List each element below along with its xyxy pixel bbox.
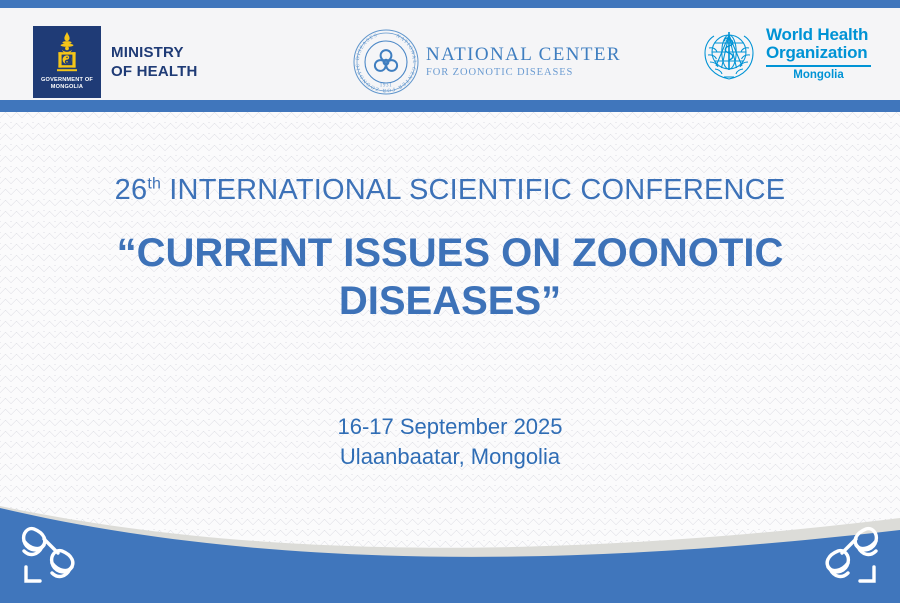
conference-poster: GOVERNMENT OF MONGOLIA MINISTRY OF HEALT…: [0, 0, 900, 603]
who-country: Mongolia: [766, 70, 871, 82]
conference-theme-title: “CURRENT ISSUES ON ZOONOTIC DISEASES”: [0, 229, 900, 325]
header-logos: GOVERNMENT OF MONGOLIA MINISTRY OF HEALT…: [0, 8, 900, 100]
top-accent-bar: [0, 0, 900, 8]
nczd-seal-year: 1931: [380, 84, 392, 89]
conference-title-rest: INTERNATIONAL SCIENTIFIC CONFERENCE: [161, 174, 785, 206]
who-name-line2: Organization: [766, 44, 871, 61]
who-logo: World Health Organization Mongolia: [700, 26, 871, 84]
who-name-line1: World Health: [766, 26, 871, 43]
title-block: 26th INTERNATIONAL SCIENTIFIC CONFERENCE…: [0, 174, 900, 325]
edition-number: 26: [115, 174, 148, 206]
ministry-name-line1: MINISTRY: [111, 43, 198, 62]
event-date: 16-17 September 2025: [0, 412, 900, 442]
conference-edition-title: 26th INTERNATIONAL SCIENTIFIC CONFERENCE: [0, 174, 900, 207]
footer-wave: [0, 458, 900, 603]
ministry-of-health-logo: GOVERNMENT OF MONGOLIA MINISTRY OF HEALT…: [33, 26, 198, 98]
nczd-name-line1: NATIONAL CENTER: [426, 45, 621, 64]
soyombo-icon: [50, 31, 84, 75]
national-center-zoonotic-diseases-logo: NATIONAL CENTER FOR ZOONOTIC DISEASES 19…: [352, 28, 621, 96]
ornament-left-ulzii-knot: [14, 519, 102, 591]
ministry-of-health-name: MINISTRY OF HEALTH: [111, 43, 198, 81]
edition-ordinal-suffix: th: [147, 175, 161, 192]
who-emblem-icon: [700, 26, 758, 84]
who-name: World Health Organization Mongolia: [766, 26, 871, 81]
who-divider: [766, 65, 871, 67]
emblem-caption-line1: GOVERNMENT OF: [41, 77, 93, 83]
nczd-name: NATIONAL CENTER FOR ZOONOTIC DISEASES: [426, 45, 621, 79]
nczd-name-line2: FOR ZOONOTIC DISEASES: [426, 68, 621, 79]
mongolia-government-emblem: GOVERNMENT OF MONGOLIA: [33, 26, 101, 98]
ministry-name-line2: OF HEALTH: [111, 62, 198, 81]
header-bottom-bar: [0, 100, 900, 112]
emblem-caption-line2: MONGOLIA: [51, 84, 83, 90]
nczd-seal-icon: NATIONAL CENTER FOR ZOONOTIC DISEASES 19…: [352, 28, 420, 96]
ornament-right-ulzii-knot: [798, 519, 886, 591]
